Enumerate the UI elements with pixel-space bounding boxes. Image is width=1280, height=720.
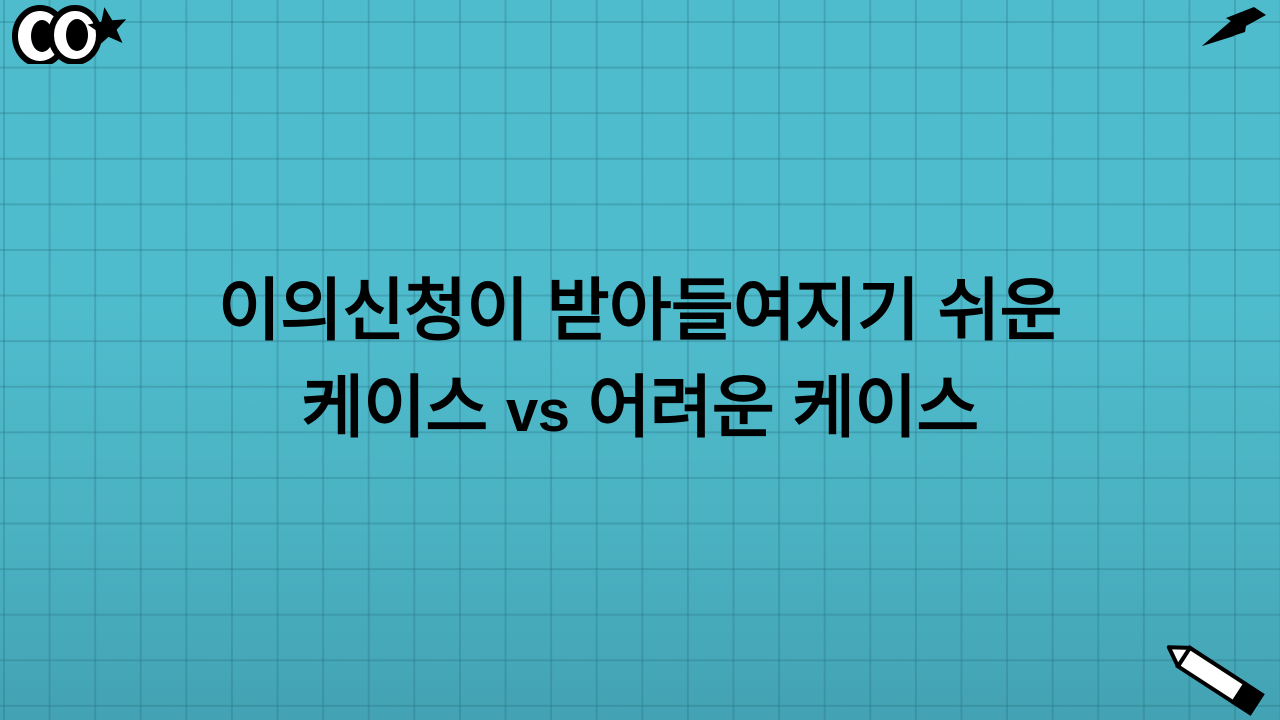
page-title: 이의신청이 받아들여지기 쉬운 케이스 vs 어려운 케이스 — [128, 263, 1152, 456]
page-title-line-2: 케이스 vs 어려운 케이스 — [218, 360, 1062, 457]
page-title-line-2-part-b: 어려운 케이스 — [588, 370, 979, 446]
page-title-line-1: 이의신청이 받아들여지기 쉬운 — [218, 263, 1062, 360]
title-container: 이의신청이 받아들여지기 쉬운 케이스 vs 어려운 케이스 — [0, 0, 1280, 720]
page-title-vs-label: vs — [506, 379, 570, 444]
slide-canvas: 이의신청이 받아들여지기 쉬운 케이스 vs 어려운 케이스 — [0, 0, 1280, 720]
page-title-line-2-part-a: 케이스 — [301, 370, 487, 446]
